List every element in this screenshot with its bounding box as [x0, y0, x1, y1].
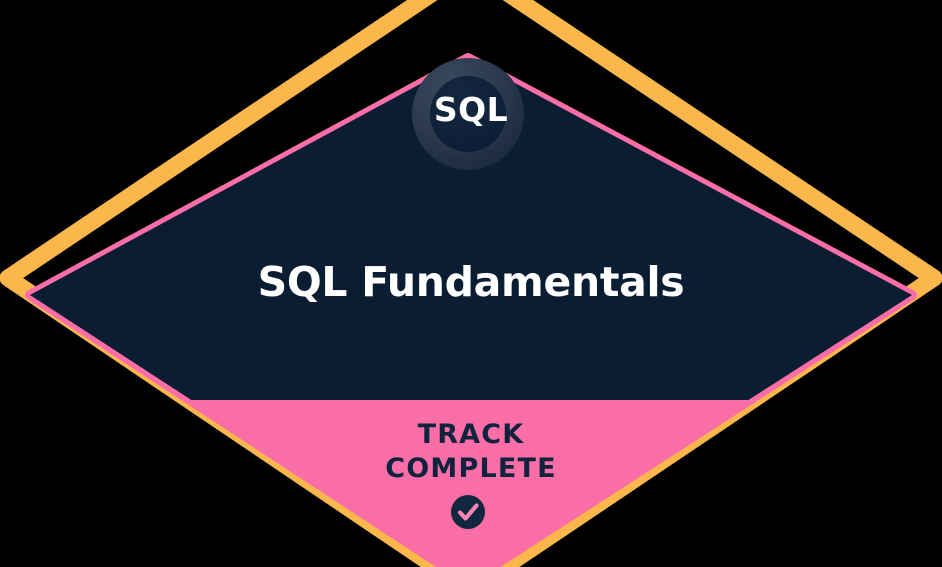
- track-completion-badge[interactable]: SQL SQL Fundamentals TRACK COMPLETE: [0, 0, 942, 567]
- sql-ring-inner: [430, 76, 506, 152]
- badge-artwork: [0, 0, 942, 567]
- check-circle-icon: [451, 495, 485, 529]
